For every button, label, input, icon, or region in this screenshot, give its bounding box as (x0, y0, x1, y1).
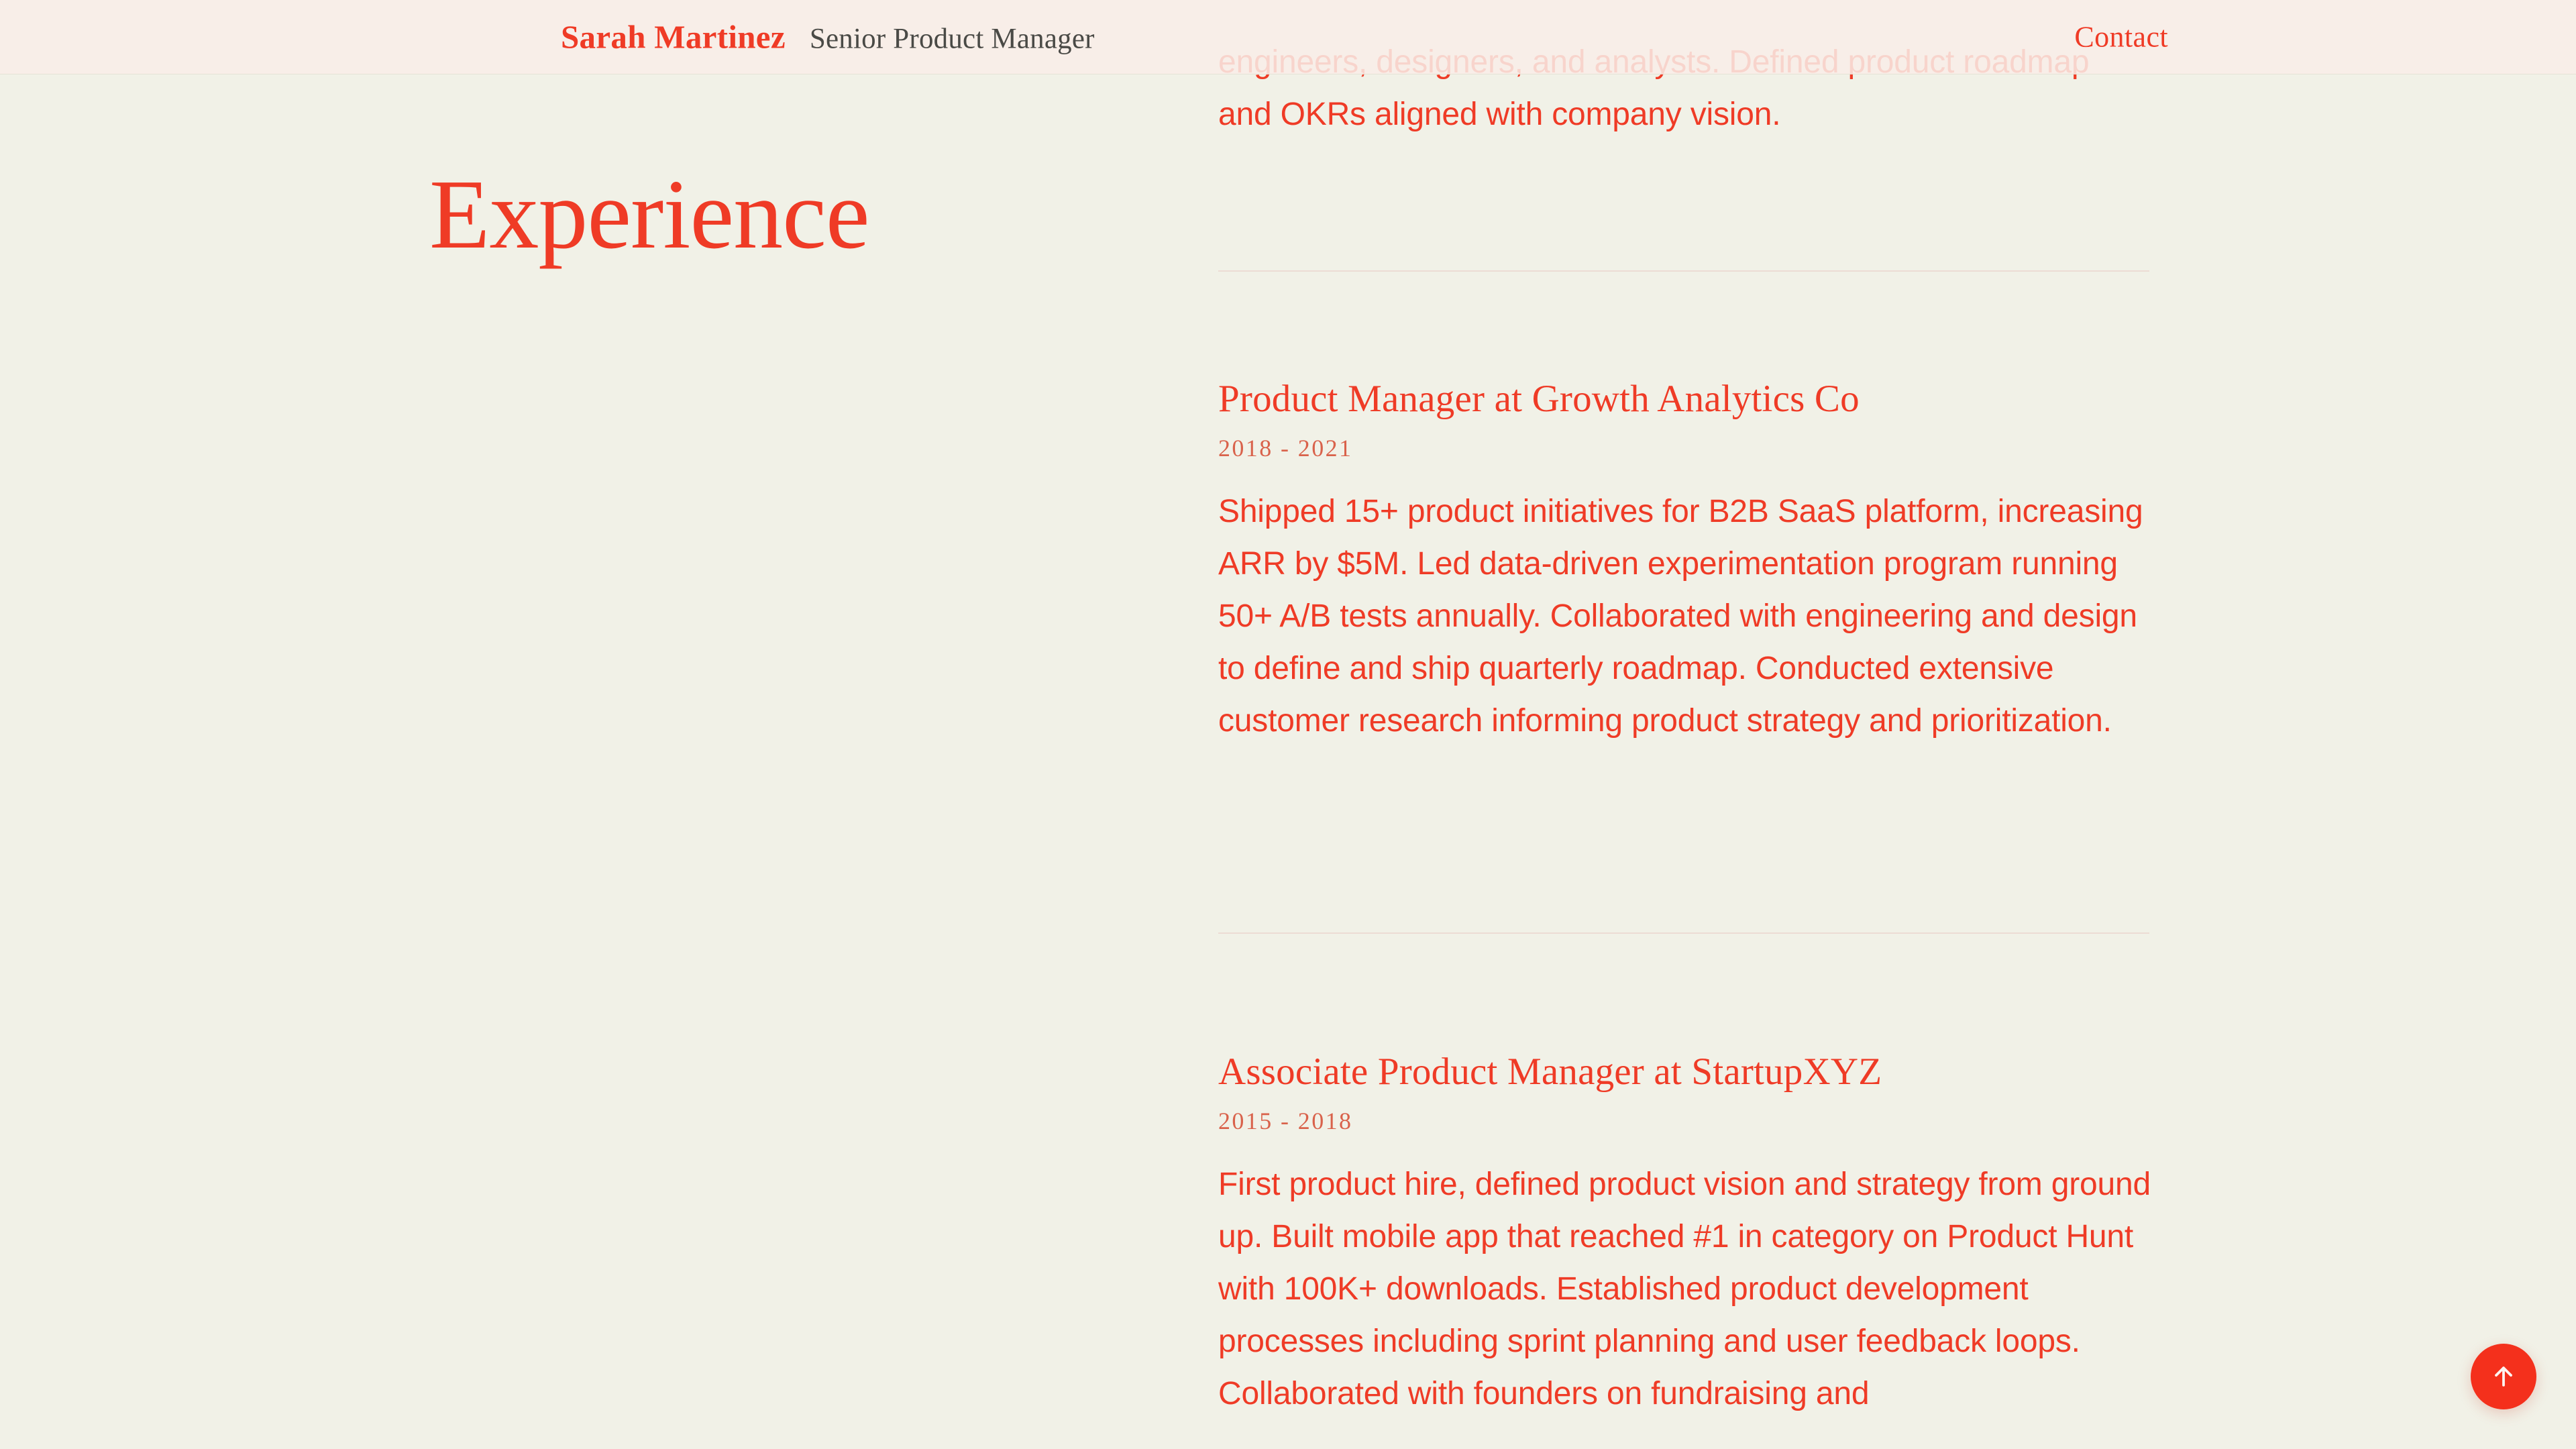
brand[interactable]: Sarah Martinez Senior Product Manager (561, 18, 1095, 56)
page-root: engineers, designers, and analysts. Defi… (0, 0, 2576, 1449)
entry-description: First product hire, defined product visi… (1218, 1159, 2151, 1420)
entry-title: Product Manager at Growth Analytics Co (1218, 377, 2151, 421)
entry-divider-1 (1218, 270, 2149, 272)
experience-entry: Product Manager at Growth Analytics Co 2… (1218, 377, 2151, 747)
arrow-up-icon (2489, 1362, 2518, 1391)
entry-divider-2 (1218, 932, 2149, 934)
site-header: Sarah Martinez Senior Product Manager Co… (0, 0, 2576, 74)
page-title: Experience (429, 165, 869, 264)
brand-role: Senior Product Manager (810, 23, 1095, 56)
scroll-to-top-button[interactable] (2471, 1344, 2536, 1409)
entry-description: Shipped 15+ product initiatives for B2B … (1218, 486, 2151, 747)
entry-dates: 2015 - 2018 (1218, 1109, 2151, 1133)
entry-dates: 2018 - 2021 (1218, 436, 2151, 460)
brand-name[interactable]: Sarah Martinez (561, 18, 786, 56)
experience-entry: Associate Product Manager at StartupXYZ … (1218, 1050, 2151, 1420)
entry-title: Associate Product Manager at StartupXYZ (1218, 1050, 2151, 1094)
nav-link-contact[interactable]: Contact (2074, 20, 2168, 54)
